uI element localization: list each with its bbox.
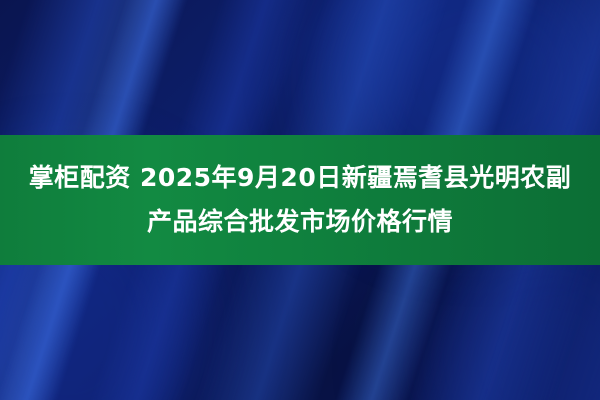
title-banner: 掌柜配资 2025年9月20日新疆焉耆县光明农副 产品综合批发市场价格行情	[0, 135, 600, 265]
title-banner-inner: 掌柜配资 2025年9月20日新疆焉耆县光明农副 产品综合批发市场价格行情	[14, 156, 586, 244]
banner-title-line-2: 产品综合批发市场价格行情	[14, 200, 586, 244]
banner-image: 掌柜配资 2025年9月20日新疆焉耆县光明农副 产品综合批发市场价格行情	[0, 0, 600, 400]
banner-title-line-1: 掌柜配资 2025年9月20日新疆焉耆县光明农副	[14, 156, 586, 200]
